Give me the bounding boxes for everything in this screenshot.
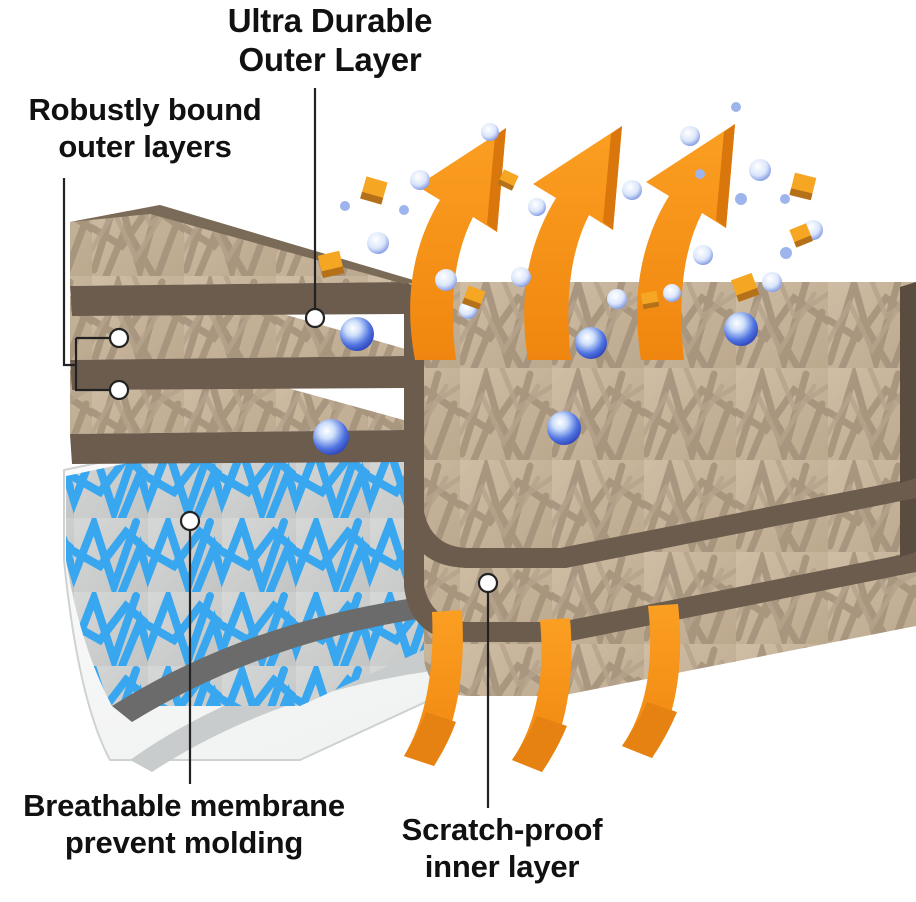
label-ultra-durable-outer-layer: Ultra Durable Outer Layer: [205, 2, 455, 80]
label-breathable-membrane: Breathable membrane prevent molding: [4, 788, 364, 861]
label-line-1: Robustly bound: [6, 92, 284, 129]
label-line-2: inner layer: [368, 849, 636, 886]
label-line-2: outer layers: [6, 129, 284, 166]
label-robustly-bound-outer-layers: Robustly bound outer layers: [6, 92, 284, 165]
layered-fabric-diagram: Ultra Durable Outer Layer Robustly bound…: [0, 0, 916, 902]
label-scratch-proof-inner-layer: Scratch-proof inner layer: [368, 812, 636, 885]
label-line-2: prevent molding: [4, 825, 364, 862]
label-line-1: Ultra Durable: [205, 2, 455, 41]
label-line-1: Breathable membrane: [4, 788, 364, 825]
label-line-1: Scratch-proof: [368, 812, 636, 849]
label-line-2: Outer Layer: [205, 41, 455, 80]
